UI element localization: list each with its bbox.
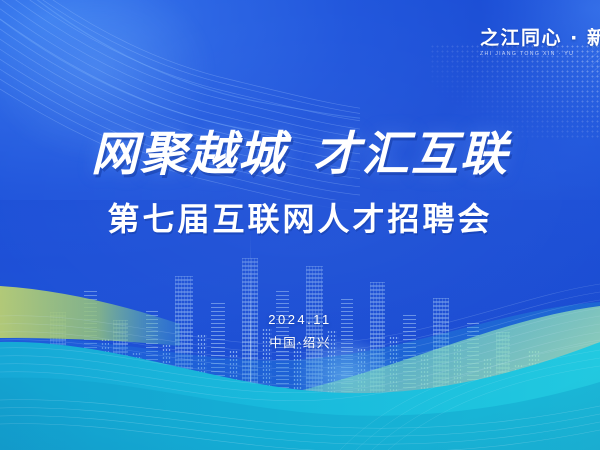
title-part-1: 网聚越城 <box>91 127 287 182</box>
poster-canvas: 之江同心 · 新 ZHI JIANG TONG XIN · YU <box>0 0 600 450</box>
event-location: 中国·绍兴 <box>0 333 600 353</box>
event-meta: 2024.11 中国·绍兴 <box>0 310 600 353</box>
event-date: 2024.11 <box>0 310 600 329</box>
page-title: 网聚越城才汇互联 <box>0 128 600 182</box>
title-part-2: 才汇互联 <box>313 127 509 182</box>
page-subtitle: 第七届互联网人才招聘会 <box>0 200 600 238</box>
